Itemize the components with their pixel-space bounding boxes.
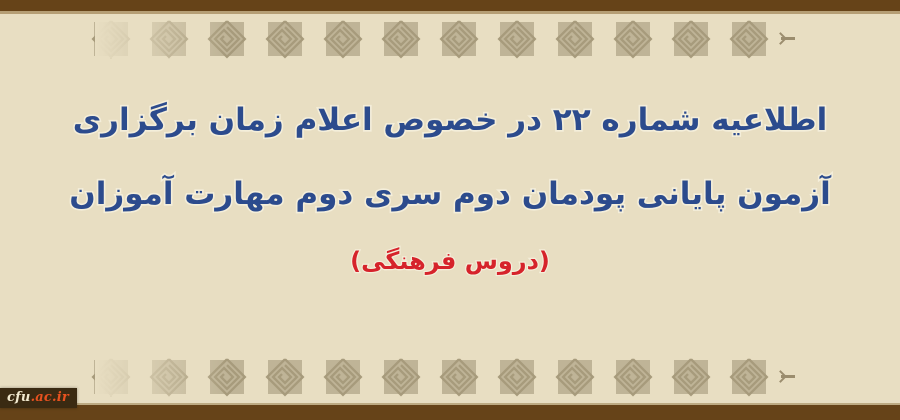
headline-line-1: اطلاعیه شماره ۲۲ در خصوص اعلام زمان برگز…	[0, 98, 900, 142]
watermark-name: cfu	[7, 390, 31, 405]
headline-line-2: آزمون پایانی پودمان دوم سری دوم مهارت آم…	[0, 172, 900, 216]
headline-block: اطلاعیه شماره ۲۲ در خصوص اعلام زمان برگز…	[0, 0, 900, 420]
site-watermark: cfu.ac.ir	[0, 388, 77, 408]
watermark-domain: .ac.ir	[31, 390, 69, 405]
announcement-banner: اطلاعیه شماره ۲۲ در خصوص اعلام زمان برگز…	[0, 0, 900, 420]
subtitle-line: (دروس فرهنگی)	[0, 244, 900, 278]
